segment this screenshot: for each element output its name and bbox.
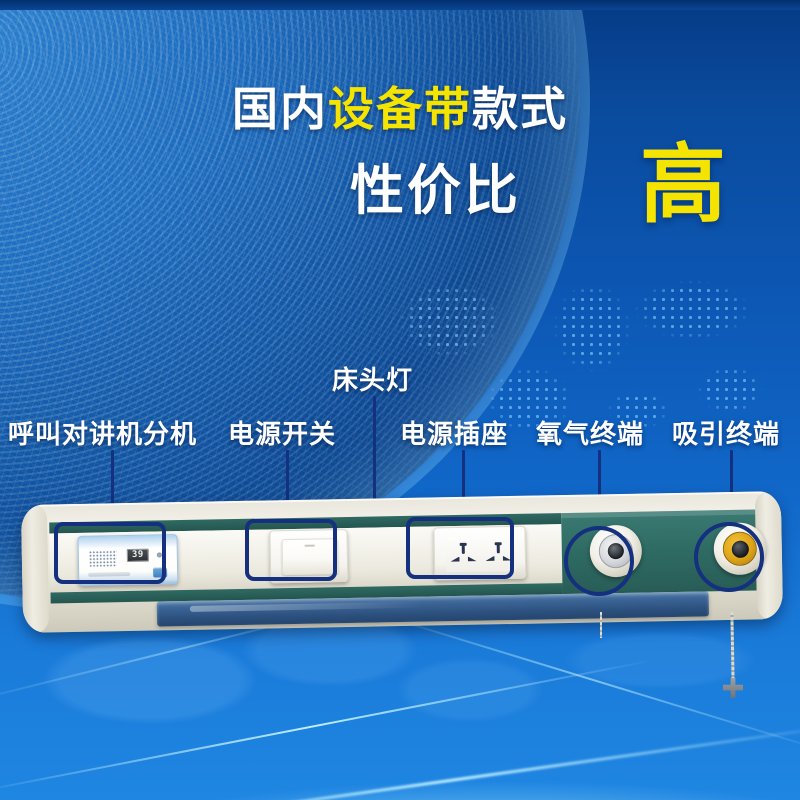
- callout-label-intercom: 呼叫对讲机分机: [8, 414, 197, 451]
- panel-end-cap-left: [21, 504, 49, 632]
- callout-ring-power-socket: [406, 517, 514, 579]
- promo-banner: 国内设备带款式 性价比 高 呼叫对讲机分机 电源开关 床头灯 电源插座 氧气终端…: [0, 0, 800, 800]
- headline-text-part3: 款式: [472, 83, 568, 135]
- horizon-glow: [0, 680, 800, 800]
- headline-text-part1: 国内: [232, 83, 328, 135]
- callout-label-power-switch: 电源开关: [228, 414, 336, 451]
- headline-block: 国内设备带款式 性价比 高: [0, 86, 800, 132]
- callout-ring-oxygen-terminal: [564, 526, 634, 596]
- headline-emphasis-word: 高: [640, 142, 726, 228]
- top-edge-band: [0, 0, 800, 10]
- callout-ring-suction-terminal: [694, 522, 764, 592]
- headline-text-part2-highlight: 设备带: [328, 83, 472, 135]
- oxygen-terminal-cord: [600, 612, 602, 638]
- headline-line-1: 国内设备带款式: [0, 86, 800, 132]
- callout-label-power-socket: 电源插座: [400, 414, 508, 451]
- callout-label-suction-terminal: 吸引终端: [672, 414, 780, 451]
- headline-line-2: 性价比: [350, 164, 650, 218]
- callout-label-oxygen-terminal: 氧气终端: [536, 414, 644, 451]
- callout-ring-power-switch: [245, 519, 337, 581]
- callout-label-bedside-lamp: 床头灯: [332, 360, 413, 397]
- callout-ring-intercom: [54, 522, 166, 584]
